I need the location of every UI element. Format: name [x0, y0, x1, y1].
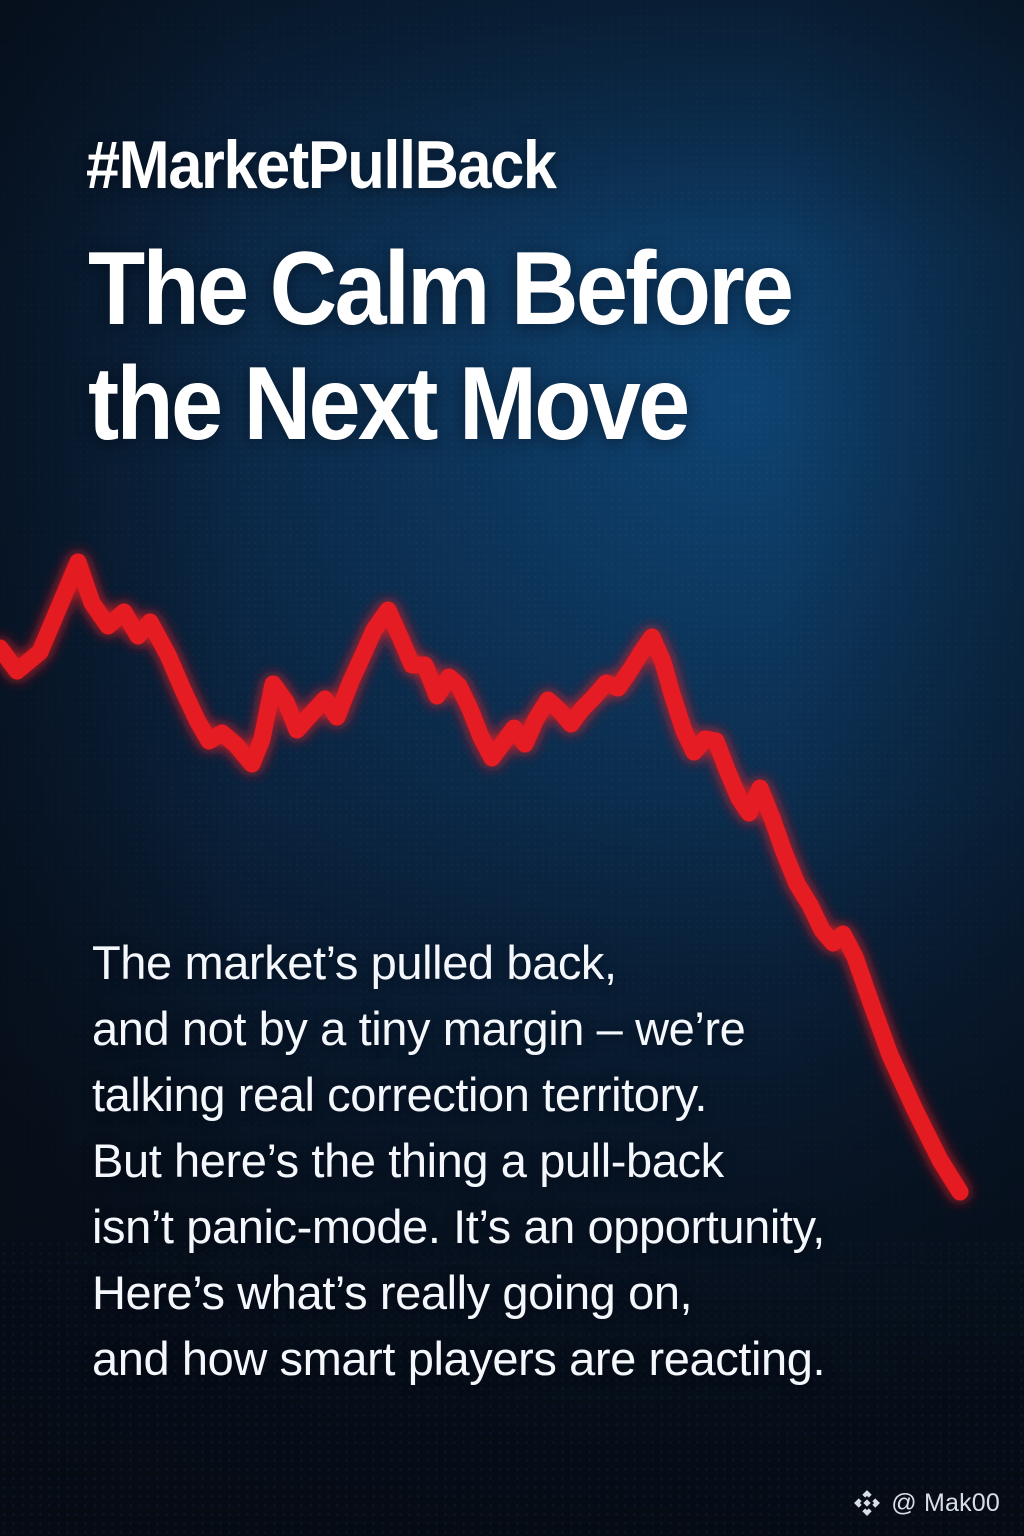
- watermark-handle: @ Mak00: [891, 1489, 1000, 1518]
- watermark: @ Mak00: [852, 1488, 1000, 1518]
- page-title: The Calm Before the Next Move: [88, 232, 791, 463]
- binance-diamond-icon: [852, 1488, 882, 1518]
- body-paragraph: The market’s pulled back, and not by a t…: [92, 930, 972, 1392]
- kicker-hashtag: #MarketPullBack: [86, 131, 556, 199]
- poster-canvas: #MarketPullBack The Calm Before the Next…: [0, 0, 1024, 1536]
